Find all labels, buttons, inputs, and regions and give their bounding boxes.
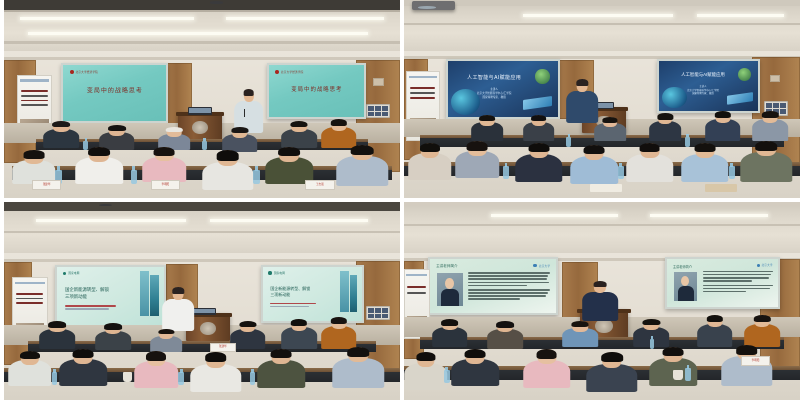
- slide-leaf-image-mirror: [738, 68, 751, 81]
- lecture-hall-scene: 国家电网 国企新能源转型、解锁 三项新动能 国家电网 国企新能源转型、解锁: [4, 202, 400, 400]
- slide-title-mirror: 国企新能源转型、解锁: [270, 286, 310, 292]
- audience-member: [432, 319, 468, 347]
- speaker[interactable]: [162, 287, 194, 331]
- nameplate-text: 张建华: [219, 346, 227, 349]
- slide-subtitle-mirror: 三项新动能: [270, 292, 290, 298]
- paper-cup: [123, 372, 133, 382]
- slide-logo-text-mirror: 国家电网: [274, 271, 285, 275]
- slide-leaf-image: [535, 69, 549, 83]
- collage-panel-top-left[interactable]: 北京大学经济学院 变局中的战略思考 北京大学经济学院 变局中的战略思考: [4, 0, 400, 198]
- slide-accent-bars-mirror: [270, 303, 316, 309]
- laptop: [192, 308, 216, 315]
- slide-title-mirror: 人工智能与AI赋能应用: [681, 72, 725, 78]
- audience-member: [741, 141, 792, 183]
- audience-member: [705, 111, 741, 141]
- slide-logo-text: 国家电网: [68, 271, 79, 275]
- water-bottle: [618, 166, 624, 179]
- ceiling-camera: [210, 1, 223, 3]
- paper-cup: [673, 370, 683, 380]
- audience-member: [75, 147, 123, 185]
- audience-member: [515, 143, 563, 183]
- slide-logo: 北京大学经济学院: [70, 70, 98, 74]
- water-bottle: [83, 141, 88, 151]
- audience-member: [8, 351, 52, 387]
- audience-member: [202, 150, 253, 190]
- slide-subtitle: 主讲人 北京大学智能科学中心/工学院 国家特聘专家、教授: [477, 88, 511, 100]
- speaker-portrait-mirror: [674, 272, 697, 301]
- audience-member: [650, 113, 682, 141]
- water-bottle: [650, 339, 655, 349]
- slide-building-image-mirror: [340, 271, 349, 313]
- projection-screen-right: 主讲老师简介 北京大学: [665, 257, 780, 309]
- ceiling: [404, 0, 800, 55]
- wall-outlet: [366, 306, 390, 320]
- water-bottle: [503, 166, 509, 179]
- audience-member: [143, 147, 187, 183]
- audience-member: [626, 143, 674, 183]
- audience-member: [523, 115, 555, 141]
- water-bottle: [729, 166, 735, 179]
- slide-accent-bars: [65, 305, 116, 311]
- projection-screen-left: 主讲老师简介 北京大学: [428, 257, 559, 314]
- water-bottle: [253, 170, 259, 184]
- projection-screen-right: 人工智能与AI赋能应用 主讲人 北京大学智能科学中心/工学院 国家特聘专家、教授: [657, 59, 760, 113]
- lecture-hall-scene: 人工智能与AI赋能应用 主讲人 北京大学智能科学中心/工学院 国家特聘专家、教授…: [404, 0, 800, 198]
- audience-member: [745, 315, 781, 347]
- projection-screen-left: 人工智能与AI赋能应用 主讲人 北京大学智能科学中心/工学院 国家特聘专家、教授: [446, 59, 561, 118]
- audience-member: [452, 349, 500, 387]
- wall-outlet: [366, 104, 390, 118]
- water-bottle: [685, 137, 690, 147]
- speaker-portrait: [437, 273, 462, 306]
- nameplate-text: 李明阳: [161, 184, 169, 187]
- slide-logo-mirror: 国家电网: [268, 271, 285, 275]
- audience-member: [321, 317, 357, 349]
- audience-member: [222, 127, 258, 153]
- laptop: [188, 107, 212, 115]
- audience-member: [257, 349, 305, 389]
- slide-logo: 国家电网: [63, 271, 80, 275]
- handout: [590, 184, 622, 192]
- slide-building-image-mirror: [350, 275, 358, 312]
- collage-panel-bottom-left[interactable]: 国家电网 国企新能源转型、解锁 三项新动能 国家电网 国企新能源转型、解锁: [4, 202, 400, 400]
- audience-member: [95, 323, 131, 351]
- slide-subtitle: 三项新动能: [65, 294, 87, 301]
- desk-nameplate: 张建华: [32, 180, 62, 190]
- nameplate-text: 张建华: [43, 184, 51, 187]
- audience-member: [752, 111, 788, 141]
- water-bottle: [178, 372, 184, 385]
- ceiling: [404, 202, 800, 257]
- water-bottle: [131, 170, 137, 184]
- slide-title-mirror: 主讲老师简介: [673, 264, 692, 269]
- audience-member: [562, 321, 598, 347]
- slide-text-block-mirror: [703, 271, 773, 294]
- audience-member: [135, 351, 179, 389]
- ceiling: [4, 202, 400, 257]
- slide-building-image: [150, 275, 159, 315]
- water-bottle: [250, 372, 256, 385]
- desk-nameplate: 李明阳: [741, 356, 771, 366]
- audience-member: [151, 329, 183, 353]
- slide-logo-text: 北京大学: [539, 264, 550, 268]
- audience-member: [471, 115, 503, 141]
- audience-member: [455, 141, 499, 179]
- nameplate-text: 李明阳: [752, 360, 760, 363]
- projection-screen-left: 国家电网 国企新能源转型、解锁 三项新动能: [55, 265, 166, 326]
- speaker[interactable]: [582, 281, 618, 321]
- audience-member: [570, 145, 618, 185]
- water-bottle: [444, 370, 450, 383]
- slide-logo-text-mirror: 北京大学: [762, 263, 773, 267]
- audience-member: [681, 143, 729, 183]
- audience-member: [594, 117, 626, 141]
- slide-subtitle-mirror: 主讲人 北京大学智能科学中心/工学院 国家特聘专家、教授: [687, 85, 719, 96]
- audience-member: [523, 349, 571, 389]
- lecture-hall-scene: 主讲老师简介 北京大学: [404, 202, 800, 400]
- audience-member: [265, 147, 313, 185]
- audience-member: [59, 349, 107, 387]
- desk-nameplate: 张建华: [210, 343, 236, 352]
- projection-screen-right: 北京大学经济学院 变局中的战略思考: [267, 63, 366, 118]
- audience-member: [281, 121, 317, 149]
- slide-title: 人工智能与AI赋能应用: [467, 74, 521, 81]
- ceiling-camera: [99, 204, 112, 206]
- audience-member: [333, 347, 384, 389]
- audience-member: [40, 321, 76, 349]
- projection-screen-left: 北京大学经济学院 变局中的战略思考: [61, 63, 168, 122]
- audience-member: [487, 321, 523, 349]
- desk-nameplate: 李明阳: [151, 180, 181, 190]
- water-bottle: [52, 372, 58, 385]
- handout: [705, 184, 737, 192]
- audience-member: [190, 352, 241, 392]
- ceiling-projector: [412, 1, 456, 10]
- slide-title: 国企新能源转型、解锁: [65, 287, 109, 293]
- audience-member: [697, 315, 733, 347]
- audience-member: [586, 352, 637, 392]
- slide-logo-text: 北京大学经济学院: [76, 70, 98, 74]
- slide-logo-mirror: 北京大学: [757, 263, 773, 267]
- slide-title: 变局中的战略思考: [87, 85, 143, 94]
- slide-logo-text-mirror: 北京大学经济学院: [281, 70, 303, 74]
- water-bottle: [685, 368, 691, 381]
- ceiling: [4, 0, 400, 55]
- lecture-hall-scene: 北京大学经济学院 变局中的战略思考 北京大学经济学院 变局中的战略思考: [4, 0, 400, 198]
- slide-text-block: [468, 272, 550, 301]
- audience-member: [404, 352, 448, 390]
- audience-member: [337, 145, 388, 187]
- collage-panel-top-right[interactable]: 人工智能与AI赋能应用 主讲人 北京大学智能科学中心/工学院 国家特聘专家、教授…: [404, 0, 800, 198]
- slide-logo-mirror: 北京大学经济学院: [275, 70, 303, 74]
- slide-logo: 北京大学: [533, 264, 550, 268]
- audience-member: [44, 121, 80, 149]
- nameplate-text: 王志强: [316, 184, 324, 187]
- audience-member: [12, 150, 56, 184]
- photo-collage: 北京大学经济学院 变局中的战略思考 北京大学经济学院 变局中的战略思考: [0, 0, 800, 400]
- slide-title-mirror: 变局中的战略思考: [291, 85, 342, 93]
- slide-building-image: [140, 271, 150, 316]
- audience-member: [281, 319, 317, 349]
- desk-nameplate: 王志强: [305, 180, 335, 190]
- audience-member: [408, 143, 452, 181]
- slide-title: 主讲老师简介: [436, 264, 458, 269]
- projection-screen-right: 国家电网 国企新能源转型、解锁 三项新动能: [261, 265, 364, 322]
- collage-panel-bottom-right[interactable]: 主讲老师简介 北京大学: [404, 202, 800, 400]
- water-bottle: [202, 141, 207, 151]
- water-bottle: [566, 137, 571, 147]
